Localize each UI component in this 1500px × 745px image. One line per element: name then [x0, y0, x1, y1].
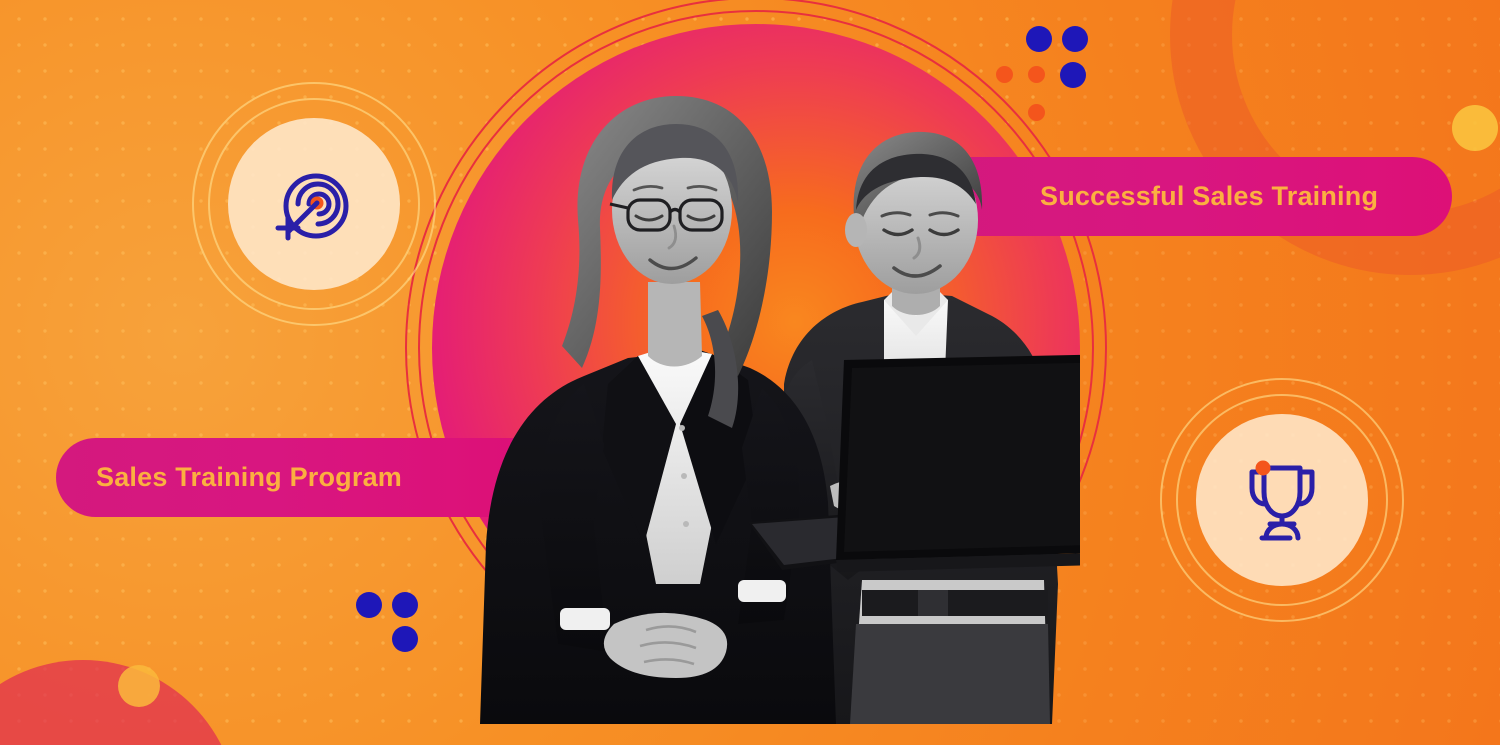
decorative-circle-bottom-left	[0, 660, 238, 745]
decorative-yellow-circle-bottom-left	[118, 665, 160, 707]
decor-dot-navy	[1060, 62, 1086, 88]
hero-photo	[432, 24, 1080, 714]
decor-dot-orange	[996, 66, 1013, 83]
banner-canvas: Successful Sales Training Sales Training…	[0, 0, 1500, 745]
decor-dot-orange	[1028, 66, 1045, 83]
decorative-yellow-circle-top-right	[1452, 105, 1498, 151]
tag-left-label: Sales Training Program	[96, 462, 402, 493]
badge-trophy[interactable]	[1196, 414, 1368, 586]
badge-target[interactable]	[228, 118, 400, 290]
decor-dot-navy	[1062, 26, 1088, 52]
decor-dot-orange	[1028, 104, 1045, 121]
target-arrow-icon	[266, 154, 362, 255]
trophy-icon	[1232, 448, 1332, 553]
decor-dot-navy	[392, 626, 418, 652]
tag-right-label: Successful Sales Training	[1040, 181, 1378, 212]
decor-dot-navy	[1026, 26, 1052, 52]
decor-dot-navy	[356, 592, 382, 618]
decor-dot-navy	[392, 592, 418, 618]
